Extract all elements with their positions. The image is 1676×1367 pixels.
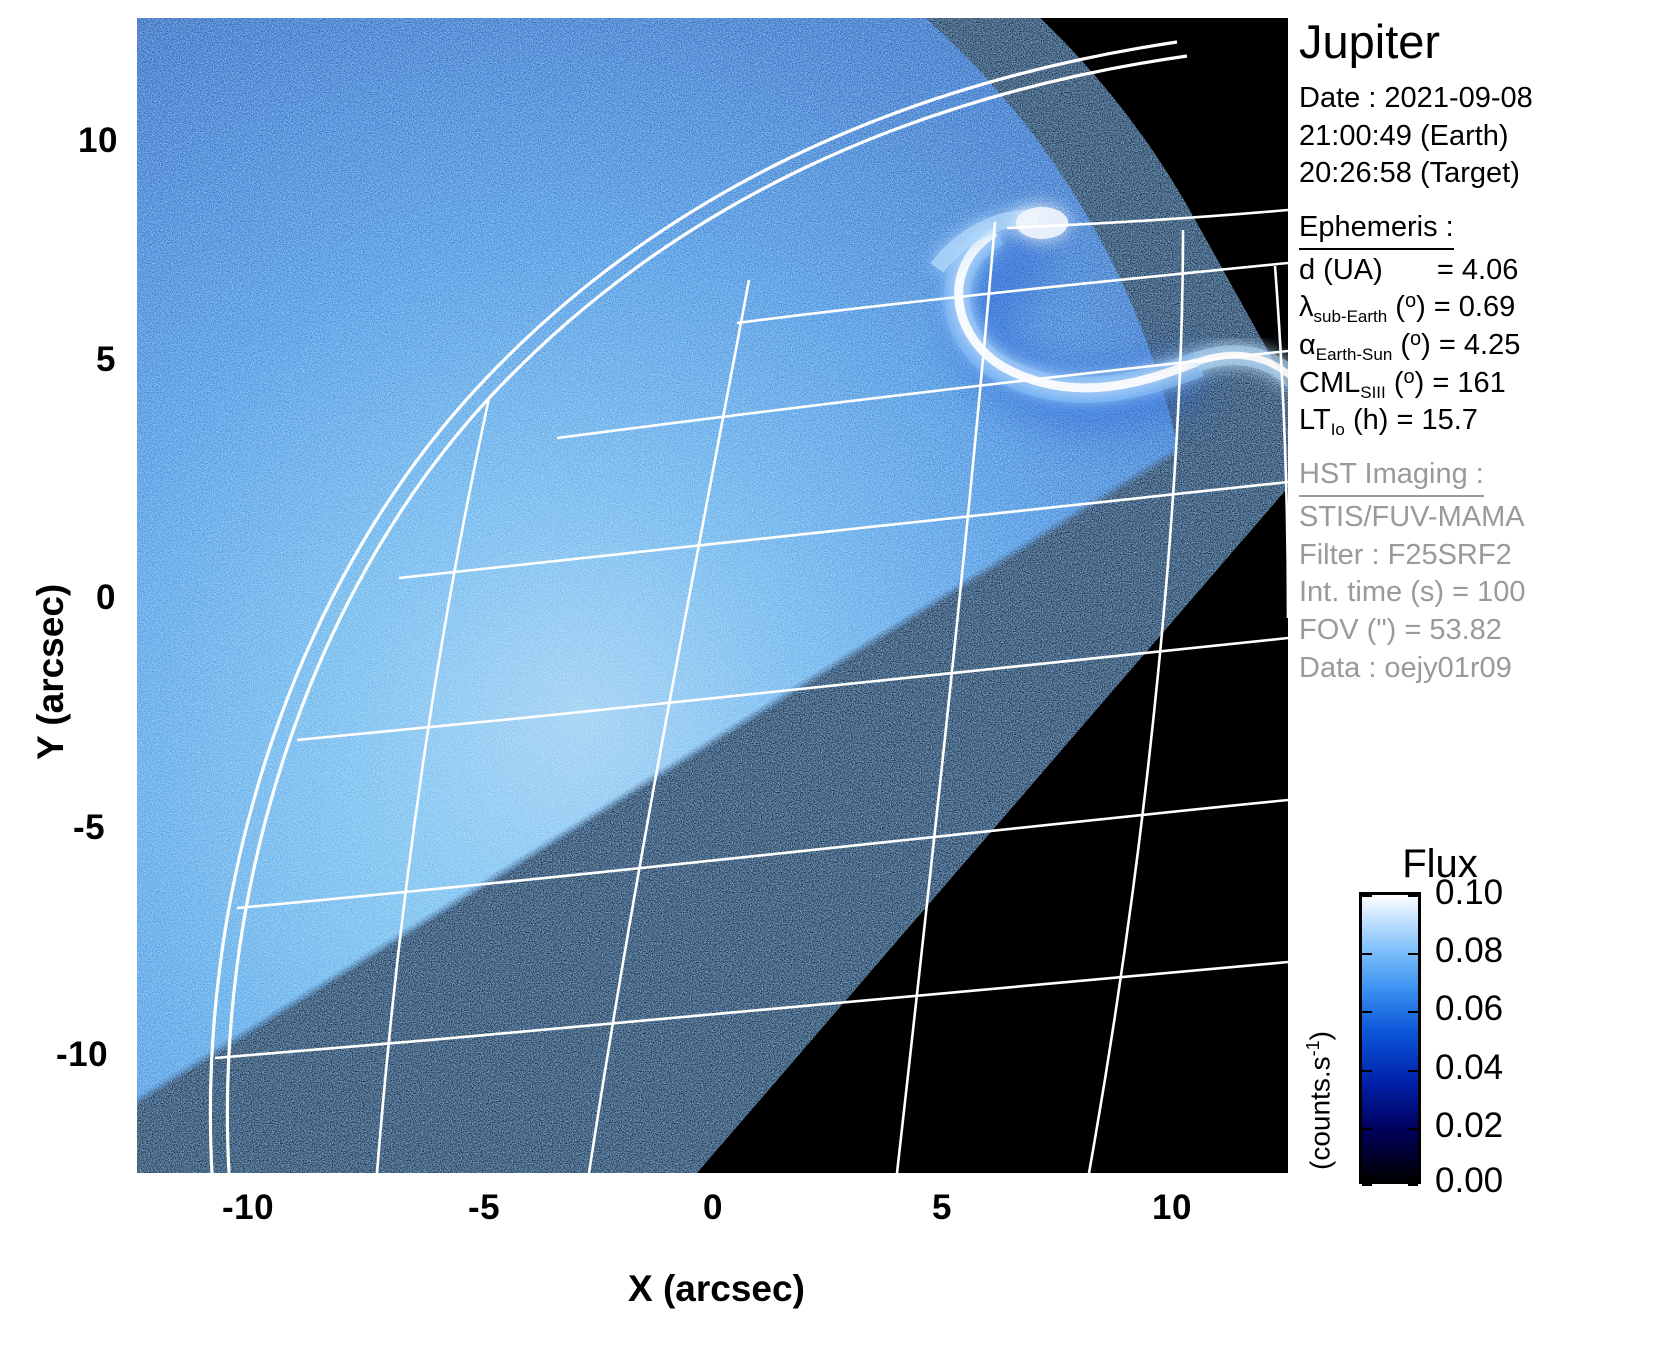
observation-time-target: 20:26:58 (Target) bbox=[1299, 155, 1671, 193]
colorbar-unit-label: (counts.s-1) bbox=[1303, 1031, 1336, 1170]
x-tick-0: 0 bbox=[703, 1188, 723, 1228]
ephemeris-unit-alpha: (o) bbox=[1400, 329, 1430, 361]
x-axis-label: X (arcsec) bbox=[628, 1268, 805, 1310]
instrument-block: HST Imaging : STIS/FUV-MAMA Filter : F25… bbox=[1299, 456, 1671, 687]
y-tick--10: -10 bbox=[56, 1035, 108, 1075]
ephemeris-value-lambda: = 0.69 bbox=[1434, 291, 1515, 323]
ephemeris-heading: Ephemeris : bbox=[1299, 209, 1454, 250]
colorbar-tick-0.02: 0.02 bbox=[1435, 1108, 1503, 1143]
observation-block: Date : 2021-09-08 21:00:49 (Earth) 20:26… bbox=[1299, 80, 1671, 193]
ephemeris-sub-alpha: Earth-Sun bbox=[1316, 345, 1393, 364]
ephemeris-row-distance: d (UA) = 4.06 bbox=[1299, 252, 1671, 290]
ephemeris-unit-lt: (h) bbox=[1353, 404, 1388, 436]
ephemeris-value-alpha: = 4.25 bbox=[1439, 329, 1520, 361]
instrument-heading: HST Imaging : bbox=[1299, 456, 1484, 497]
x-tick--10: -10 bbox=[222, 1188, 274, 1228]
instrument-int-time: Int. time (s) = 100 bbox=[1299, 574, 1671, 612]
y-tick-5: 5 bbox=[96, 340, 116, 380]
ephemeris-key-lambda: λ bbox=[1299, 291, 1314, 323]
instrument-fov: FOV (") = 53.82 bbox=[1299, 612, 1671, 650]
ephemeris-unit-cml: (o) bbox=[1394, 367, 1424, 399]
ephemeris-key-cml: CML bbox=[1299, 367, 1360, 399]
ephemeris-value-d: = 4.06 bbox=[1437, 254, 1518, 286]
y-tick-10: 10 bbox=[78, 121, 118, 161]
x-tick-5: 5 bbox=[932, 1188, 952, 1228]
colorbar-tick-0.08: 0.08 bbox=[1435, 933, 1503, 968]
colorbar-tick-0.10: 0.10 bbox=[1435, 875, 1503, 910]
observation-date: Date : 2021-09-08 bbox=[1299, 80, 1671, 118]
coordinate-grid bbox=[137, 18, 1288, 1173]
instrument-detector: STIS/FUV-MAMA bbox=[1299, 499, 1671, 537]
ephemeris-value-cml: = 161 bbox=[1432, 367, 1505, 399]
page-title: Jupiter bbox=[1299, 18, 1671, 66]
ephemeris-unit-lambda: (o) bbox=[1395, 291, 1425, 323]
x-tick--5: -5 bbox=[468, 1188, 500, 1228]
ephemeris-key-alpha: α bbox=[1299, 329, 1316, 361]
observation-time-earth: 21:00:49 (Earth) bbox=[1299, 118, 1671, 156]
ephemeris-row-lambda: λsub-Earth (o) = 0.69 bbox=[1299, 289, 1671, 327]
ephemeris-block: Ephemeris : d (UA) = 4.06 λsub-Earth (o)… bbox=[1299, 209, 1671, 440]
colorbar-tick-0.06: 0.06 bbox=[1435, 991, 1503, 1026]
instrument-dataset: Data : oejy01r09 bbox=[1299, 650, 1671, 688]
y-tick-0: 0 bbox=[96, 578, 116, 618]
ephemeris-row-alpha: αEarth-Sun (o) = 4.25 bbox=[1299, 327, 1671, 365]
ephemeris-sub-cml: SIII bbox=[1360, 383, 1386, 402]
ephemeris-key-d: d (UA) bbox=[1299, 254, 1383, 286]
colorbar: Flux 0.10 0.08 0.06 0.04 0.02 0.00 (coun… bbox=[1299, 840, 1671, 1200]
y-tick--5: -5 bbox=[73, 808, 105, 848]
ephemeris-key-lt: LT bbox=[1299, 404, 1331, 436]
colorbar-tick-0.04: 0.04 bbox=[1435, 1050, 1503, 1085]
ephemeris-sub-lambda: sub-Earth bbox=[1314, 307, 1388, 326]
ephemeris-value-lt: = 15.7 bbox=[1396, 404, 1477, 436]
ephemeris-row-lt: LTIo (h) = 15.7 bbox=[1299, 402, 1671, 440]
instrument-filter: Filter : F25SRF2 bbox=[1299, 537, 1671, 575]
ephemeris-row-cml: CMLSIII (o) = 161 bbox=[1299, 365, 1671, 403]
info-panel: Jupiter Date : 2021-09-08 21:00:49 (Eart… bbox=[1299, 10, 1671, 687]
plot-area bbox=[137, 18, 1288, 1173]
colorbar-tick-0.00: 0.00 bbox=[1435, 1163, 1503, 1198]
x-tick-10: 10 bbox=[1152, 1188, 1192, 1228]
y-axis-label: Y (arcsec) bbox=[30, 584, 72, 760]
ephemeris-sub-lt: Io bbox=[1331, 420, 1345, 439]
colorbar-gradient bbox=[1359, 892, 1421, 1184]
